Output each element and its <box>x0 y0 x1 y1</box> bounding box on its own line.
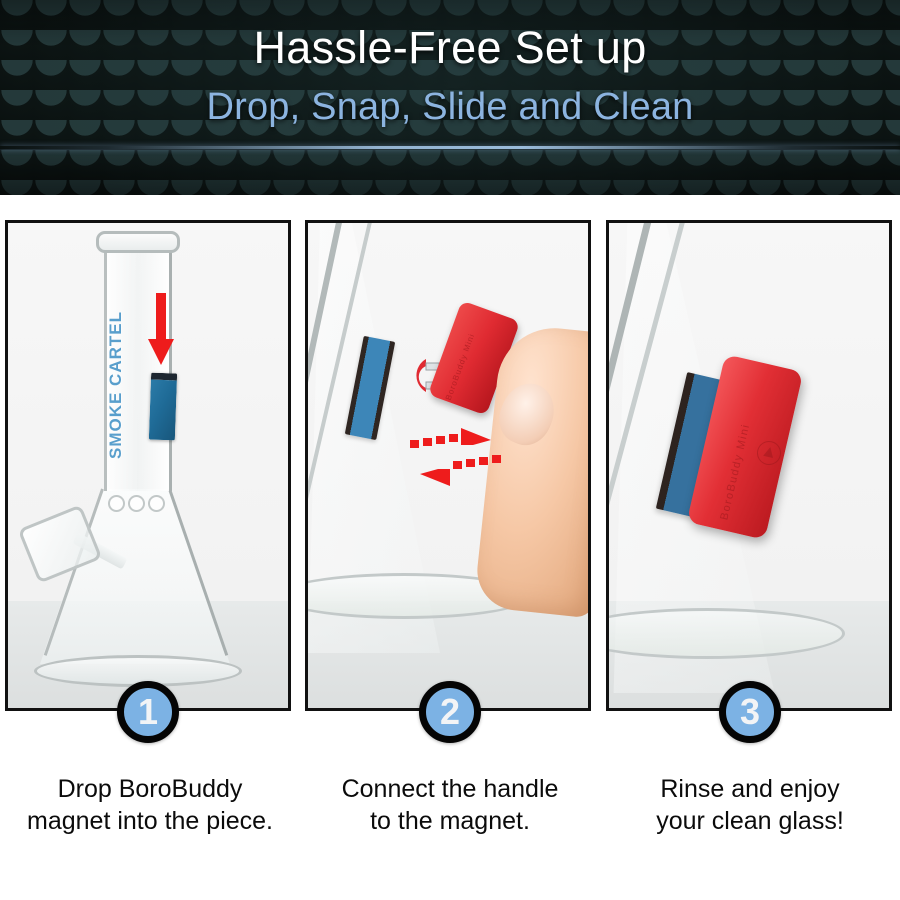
step-badge-2: 2 <box>419 681 481 743</box>
caption-line-3b: your clean glass! <box>600 805 900 837</box>
photo-backdrop-1: SMOKE CARTEL <box>8 223 288 708</box>
step-badge-3: 3 <box>719 681 781 743</box>
step-caption-3: Rinse and enjoy your clean glass! <box>600 773 900 837</box>
photo-backdrop-2: BoroBuddy Mini <box>308 223 588 708</box>
caption-line-1b: magnet into the piece. <box>0 805 300 837</box>
step-caption-1: Drop BoroBuddy magnet into the piece. <box>0 773 300 837</box>
down-arrow-icon <box>148 293 174 365</box>
magnet-pad-falling <box>149 373 177 441</box>
caption-line-1a: Drop BoroBuddy <box>0 773 300 805</box>
beaker-mouthpiece <box>96 231 180 253</box>
header-divider <box>0 146 900 149</box>
ice-pinch-right <box>148 495 165 512</box>
page-title: Hassle-Free Set up <box>0 22 900 74</box>
step-badge-1: 1 <box>117 681 179 743</box>
glass-brand-label: SMOKE CARTEL <box>106 303 128 468</box>
ice-pinch-left <box>108 495 125 512</box>
caption-line-3a: Rinse and enjoy <box>600 773 900 805</box>
header-banner: Hassle-Free Set up Drop, Snap, Slide and… <box>0 0 900 195</box>
step-photo-3: BoroBuddy Mini <box>606 220 892 711</box>
infographic-page: Hassle-Free Set up Drop, Snap, Slide and… <box>0 0 900 900</box>
caption-line-2b: to the magnet. <box>300 805 600 837</box>
page-subtitle: Drop, Snap, Slide and Clean <box>0 86 900 129</box>
slide-arrows-icon <box>403 428 508 486</box>
step-caption-2: Connect the handle to the magnet. <box>300 773 600 837</box>
step-photo-1: SMOKE CARTEL <box>5 220 291 711</box>
step-panels: SMOKE CARTEL <box>0 220 900 715</box>
photo-backdrop-3: BoroBuddy Mini <box>609 223 889 708</box>
step-photo-2: BoroBuddy Mini <box>305 220 591 711</box>
caption-line-2a: Connect the handle <box>300 773 600 805</box>
ice-pinch-center <box>128 495 145 512</box>
